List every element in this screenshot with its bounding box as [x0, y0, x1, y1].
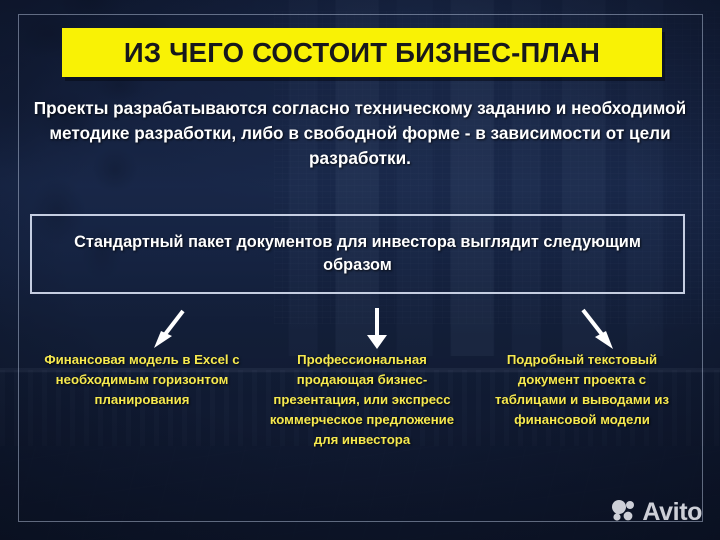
intro-paragraph: Проекты разрабатываются согласно техниче…: [26, 96, 694, 171]
title-banner: ИЗ ЧЕГО СОСТОИТ БИЗНЕС-ПЛАН: [62, 28, 662, 77]
arrow-down-left-icon: [150, 308, 192, 352]
page-title: ИЗ ЧЕГО СОСТОИТ БИЗНЕС-ПЛАН: [124, 37, 600, 69]
statement-box: Стандартный пакет документов для инвесто…: [30, 214, 685, 294]
avito-logo-icon: [611, 499, 637, 526]
avito-wordmark: Avito: [642, 500, 702, 525]
arrow-down-right-icon: [575, 307, 619, 353]
columns-group: Финансовая модель в Excel с необходимым …: [22, 350, 698, 450]
arrow-down-icon: [362, 306, 392, 352]
column-business-presentation: Профессиональная продающая бизнес-презен…: [262, 350, 462, 450]
column-text-document: Подробный текстовый документ проекта с т…: [482, 350, 682, 430]
column-financial-model: Финансовая модель в Excel с необходимым …: [42, 350, 242, 410]
poster-canvas: ИЗ ЧЕГО СОСТОИТ БИЗНЕС-ПЛАН Проекты разр…: [0, 0, 720, 540]
avito-watermark: Avito: [611, 499, 702, 526]
statement-text: Стандартный пакет документов для инвесто…: [58, 231, 657, 277]
